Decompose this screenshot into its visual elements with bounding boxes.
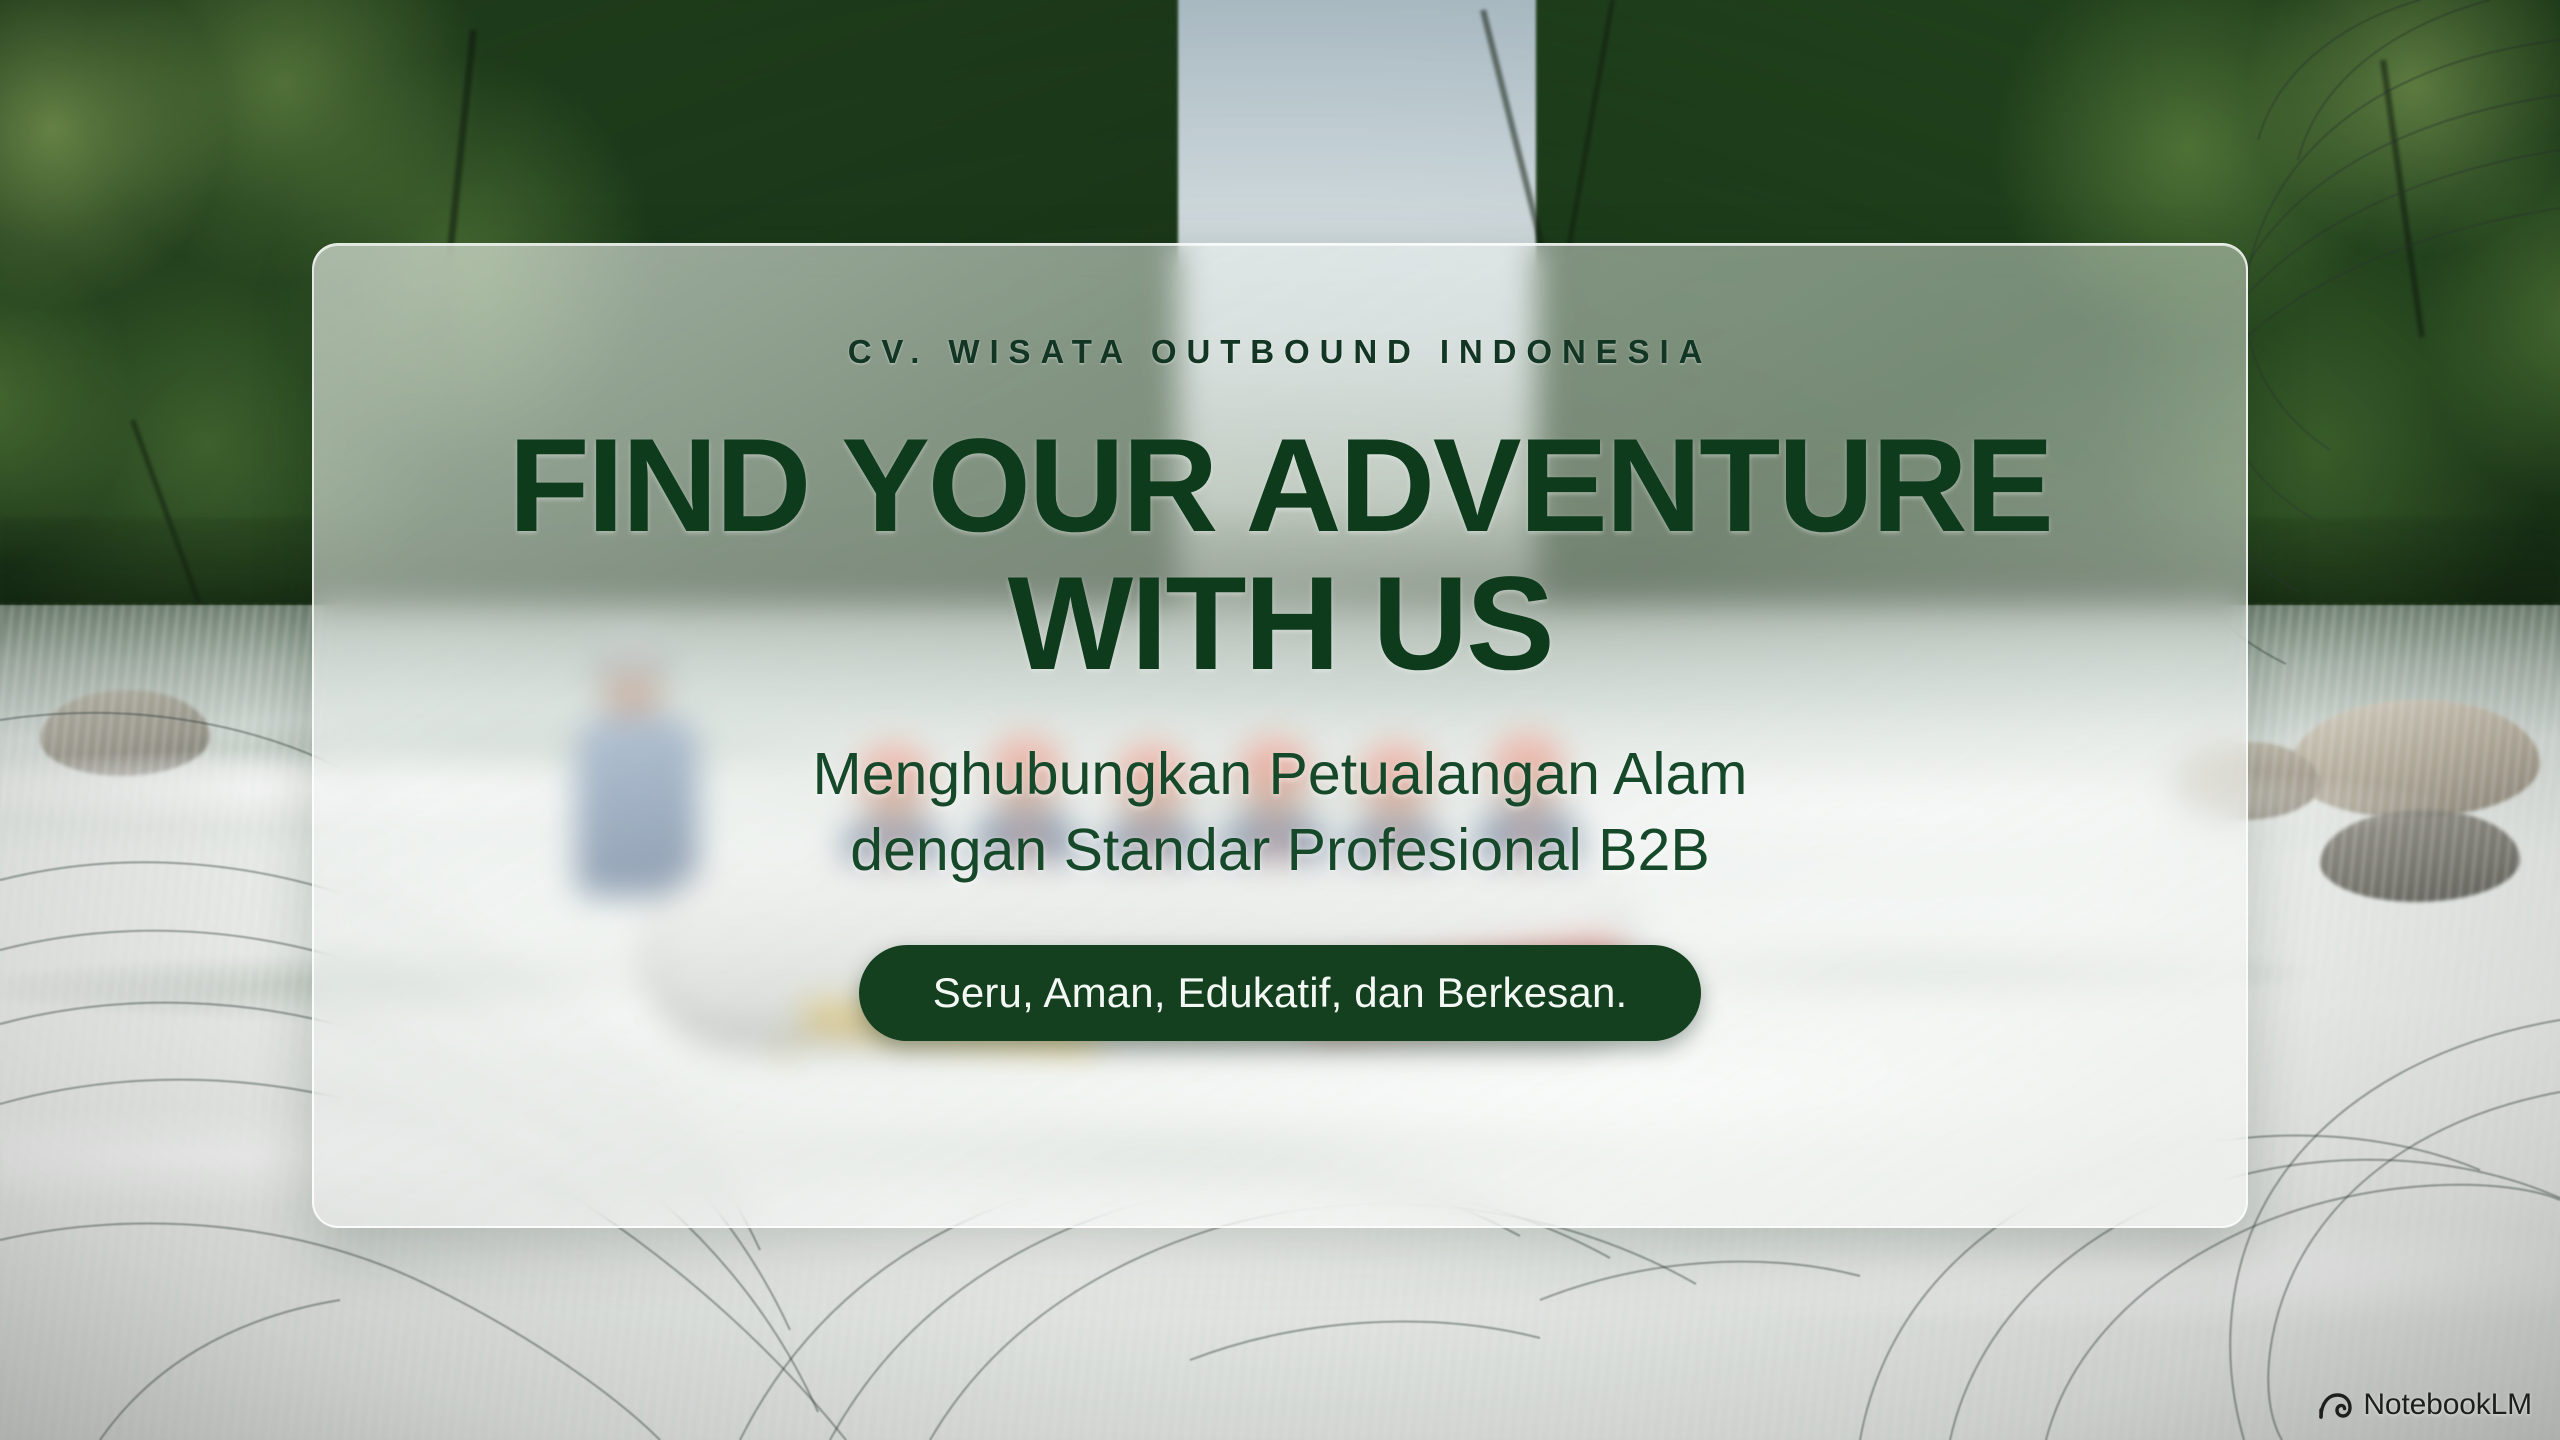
headline-line-2: WITH US xyxy=(508,555,2051,693)
presentation-slide: CV. WISATA OUTBOUND INDONESIA FIND YOUR … xyxy=(0,0,2560,1440)
headline-line-1: FIND YOUR ADVENTURE xyxy=(508,417,2051,555)
notebooklm-label: NotebookLM xyxy=(2363,1388,2532,1422)
company-eyebrow: CV. WISATA OUTBOUND INDONESIA xyxy=(848,333,1713,371)
page-title: FIND YOUR ADVENTURE WITH US xyxy=(508,417,2051,694)
subheadline-line-1: Menghubungkan Petualangan Alam xyxy=(813,736,1748,813)
subheadline: Menghubungkan Petualangan Alam dengan St… xyxy=(813,736,1748,889)
subheadline-line-2: dengan Standar Profesional B2B xyxy=(813,812,1748,889)
notebooklm-spiral-icon xyxy=(2318,1390,2352,1420)
hero-glass-card: CV. WISATA OUTBOUND INDONESIA FIND YOUR … xyxy=(312,243,2248,1228)
tagline-pill-button[interactable]: Seru, Aman, Edukatif, dan Berkesan. xyxy=(859,945,1702,1041)
notebooklm-watermark: NotebookLM xyxy=(2318,1388,2532,1422)
